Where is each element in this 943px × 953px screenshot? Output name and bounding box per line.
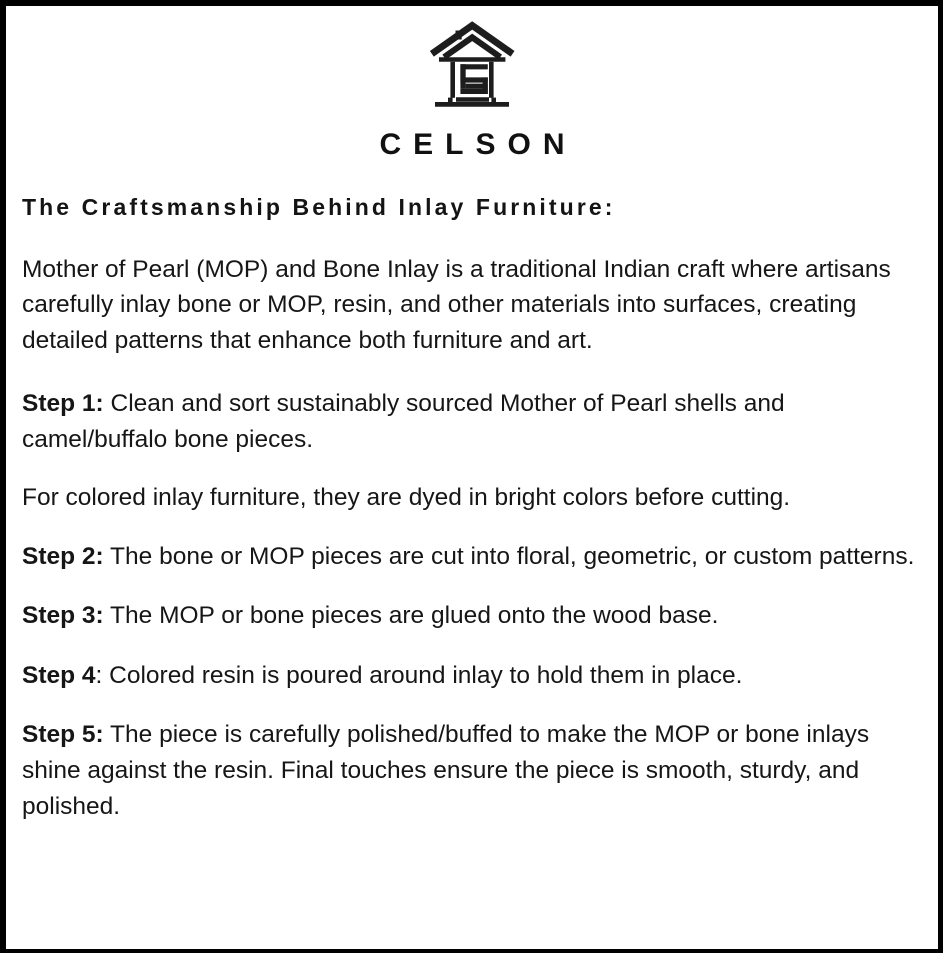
- intro-paragraph: Mother of Pearl (MOP) and Bone Inlay is …: [22, 252, 922, 359]
- page-title: The Craftsmanship Behind Inlay Furniture…: [22, 194, 922, 222]
- step-5-label: Step 5:: [22, 721, 104, 748]
- dyeing-note-paragraph: For colored inlay furniture, they are dy…: [22, 480, 922, 516]
- step-2-text: The bone or MOP pieces are cut into flor…: [104, 543, 915, 570]
- brand-header: CELSON: [22, 14, 922, 160]
- step-3-paragraph: Step 3: The MOP or bone pieces are glued…: [22, 598, 922, 634]
- house-pillars-logo-icon: [426, 18, 518, 114]
- document-card: CELSON The Craftsmanship Behind Inlay Fu…: [0, 0, 943, 953]
- document-inner: CELSON The Craftsmanship Behind Inlay Fu…: [6, 6, 938, 949]
- step-3-label: Step 3:: [22, 602, 104, 629]
- step-1-paragraph: Step 1: Clean and sort sustainably sourc…: [22, 386, 922, 458]
- dyeing-note-text: For colored inlay furniture, they are dy…: [22, 484, 790, 511]
- step-1-label: Step 1:: [22, 390, 104, 417]
- step-2-paragraph: Step 2: The bone or MOP pieces are cut i…: [22, 539, 922, 575]
- step-4-paragraph: Step 4: Colored resin is poured around i…: [22, 658, 922, 694]
- body-content: Mother of Pearl (MOP) and Bone Inlay is …: [22, 252, 922, 825]
- step-3-text: The MOP or bone pieces are glued onto th…: [104, 602, 719, 629]
- step-2-label: Step 2:: [22, 543, 104, 570]
- step-4-text: : Colored resin is poured around inlay t…: [96, 662, 743, 689]
- step-5-paragraph: Step 5: The piece is carefully polished/…: [22, 717, 922, 824]
- step-4-label: Step 4: [22, 662, 96, 689]
- step-5-text: The piece is carefully polished/buffed t…: [22, 721, 869, 820]
- step-1-text: Clean and sort sustainably sourced Mothe…: [22, 390, 785, 453]
- brand-name: CELSON: [22, 130, 922, 160]
